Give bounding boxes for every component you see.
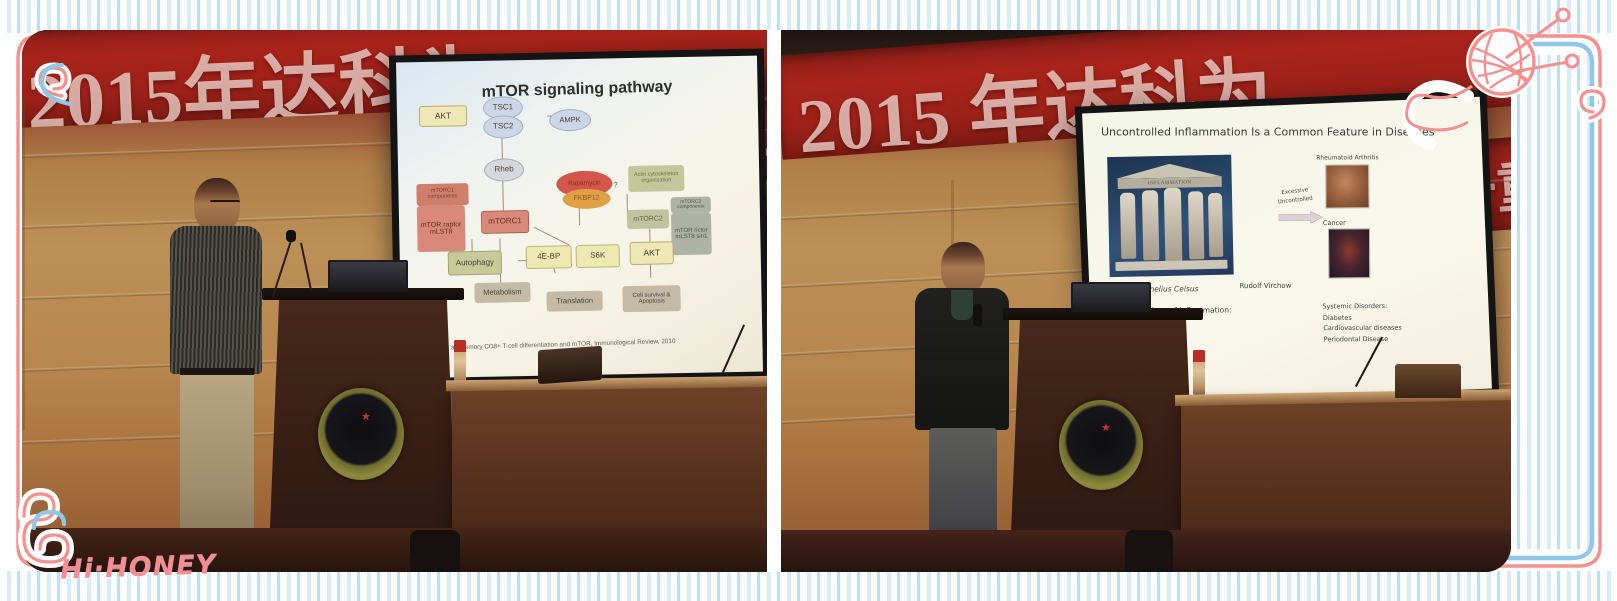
handheld-microphone [973, 304, 982, 326]
cancer-image [1328, 228, 1370, 278]
slide-title: Uncontrolled Inflammation Is a Common Fe… [1101, 126, 1434, 139]
node-mtor-rictor: mTOR rictor mLST8 sin1 [671, 212, 712, 255]
node-mtorc2-components: mTORC2 components [671, 196, 711, 213]
node-akt: AKT [419, 105, 467, 127]
node-4ebp: 4E-BP [526, 245, 572, 269]
laptop-left [328, 260, 408, 292]
backpack-right [1125, 530, 1173, 572]
presenter-shirt [170, 226, 262, 374]
slide-mtor: mTOR signaling pathway [396, 56, 763, 379]
photo-left[interactable]: 2015年达科为 班一重 mTOR signaling pathway [22, 30, 767, 572]
node-fkbp12: FKBP12 [562, 188, 610, 209]
microphone-left [286, 230, 296, 242]
glasses-icon [210, 200, 240, 210]
inflammation-temple-image: INFLAMMATION [1107, 155, 1233, 278]
systemic-diabetes: Diabetes [1323, 314, 1352, 323]
node-mtorc1-components: mTORC1 components [416, 183, 468, 206]
excessive-arrow-icon [1279, 210, 1323, 222]
edge [533, 227, 569, 246]
node-translation: Translation [546, 291, 602, 312]
label-cancer: Cancer [1323, 219, 1346, 228]
university-emblem: ★ [318, 388, 404, 480]
node-akt-2: AKT [629, 241, 673, 265]
systemic-cardiovascular: Cardiovascular diseases [1323, 324, 1402, 334]
node-mtor-raptor-mlst8: mTOR raptor mLST8 [417, 205, 466, 252]
node-rheb: Rheb [484, 158, 524, 182]
node-s6k: S6K [576, 244, 620, 268]
node-ampk: AMPK [549, 109, 591, 132]
edge [502, 178, 504, 212]
slide-title: mTOR signaling pathway [396, 76, 757, 105]
node-mtorc1: mTORC1 [481, 210, 529, 234]
presenter-belt [180, 368, 254, 375]
name-virchow: Rudolf Virchow [1239, 282, 1291, 292]
node-mtorc2: mTORC2 [627, 209, 669, 229]
node-autophagy: Autophagy [448, 251, 502, 276]
photo-right[interactable]: 2015 年达科为 班一重庆分站 Uncontrolled Inflammati… [781, 30, 1511, 572]
presenter-head [941, 242, 985, 294]
presenter [162, 178, 272, 572]
water-bottle-right [1193, 350, 1205, 396]
node-cell-survival: Cell survival & Apoptosis [622, 285, 680, 312]
node-tsc2: TSC2 [483, 115, 523, 139]
monitor-speaker-left [538, 346, 602, 384]
photo-collage: 2015年达科为 班一重 mTOR signaling pathway [22, 30, 1511, 572]
laptop-right [1071, 282, 1151, 312]
node-actin-cytoskeleton: Actin cytoskeleton organization [628, 165, 684, 192]
label-rheumatoid-arthritis: Rheumatoid Arthritis [1316, 154, 1378, 163]
question-mark: ? [610, 180, 620, 190]
rheumatoid-arthritis-image [1325, 164, 1369, 208]
systemic-heading: Systemic Disorders: [1322, 302, 1387, 312]
presenter [911, 242, 1015, 572]
collage-canvas: 2015年达科为 班一重 mTOR signaling pathway [0, 0, 1617, 601]
node-metabolism: Metabolism [474, 282, 530, 303]
hi-honey-logo: Hi·HONEY [60, 549, 217, 585]
university-emblem: ★ [1059, 400, 1143, 490]
presenter-collar [951, 290, 973, 320]
water-bottle-left [454, 340, 466, 386]
chair-right [1395, 364, 1461, 398]
backpack-left [410, 530, 460, 572]
